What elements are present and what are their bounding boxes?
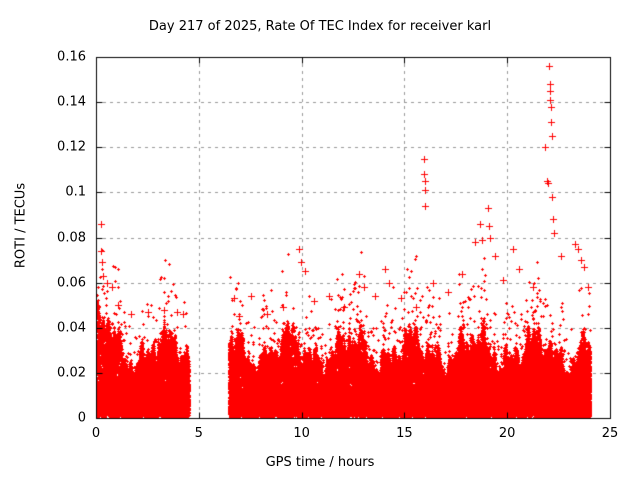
x-tick-label: 0 xyxy=(92,426,100,441)
y-tick-label: 0 xyxy=(28,411,86,426)
y-axis-label: ROTI / TECUs xyxy=(14,161,29,291)
x-tick-label: 25 xyxy=(602,426,619,441)
x-tick-label: 15 xyxy=(396,426,413,441)
y-tick-label: 0.12 xyxy=(28,140,86,155)
chart-root: Day 217 of 2025, Rate Of TEC Index for r… xyxy=(0,0,640,480)
y-tick-label: 0.04 xyxy=(28,320,86,335)
x-axis-label: GPS time / hours xyxy=(0,455,640,470)
y-tick-label: 0.14 xyxy=(28,95,86,110)
y-tick-label: 0.1 xyxy=(28,185,86,200)
x-tick-label: 20 xyxy=(499,426,516,441)
scatter-plot-canvas xyxy=(0,0,640,480)
x-tick-label: 5 xyxy=(195,426,203,441)
y-tick-label: 0.06 xyxy=(28,275,86,290)
y-tick-label: 0.08 xyxy=(28,230,86,245)
y-tick-label: 0.02 xyxy=(28,365,86,380)
y-tick-label: 0.16 xyxy=(28,50,86,65)
x-tick-label: 10 xyxy=(293,426,310,441)
